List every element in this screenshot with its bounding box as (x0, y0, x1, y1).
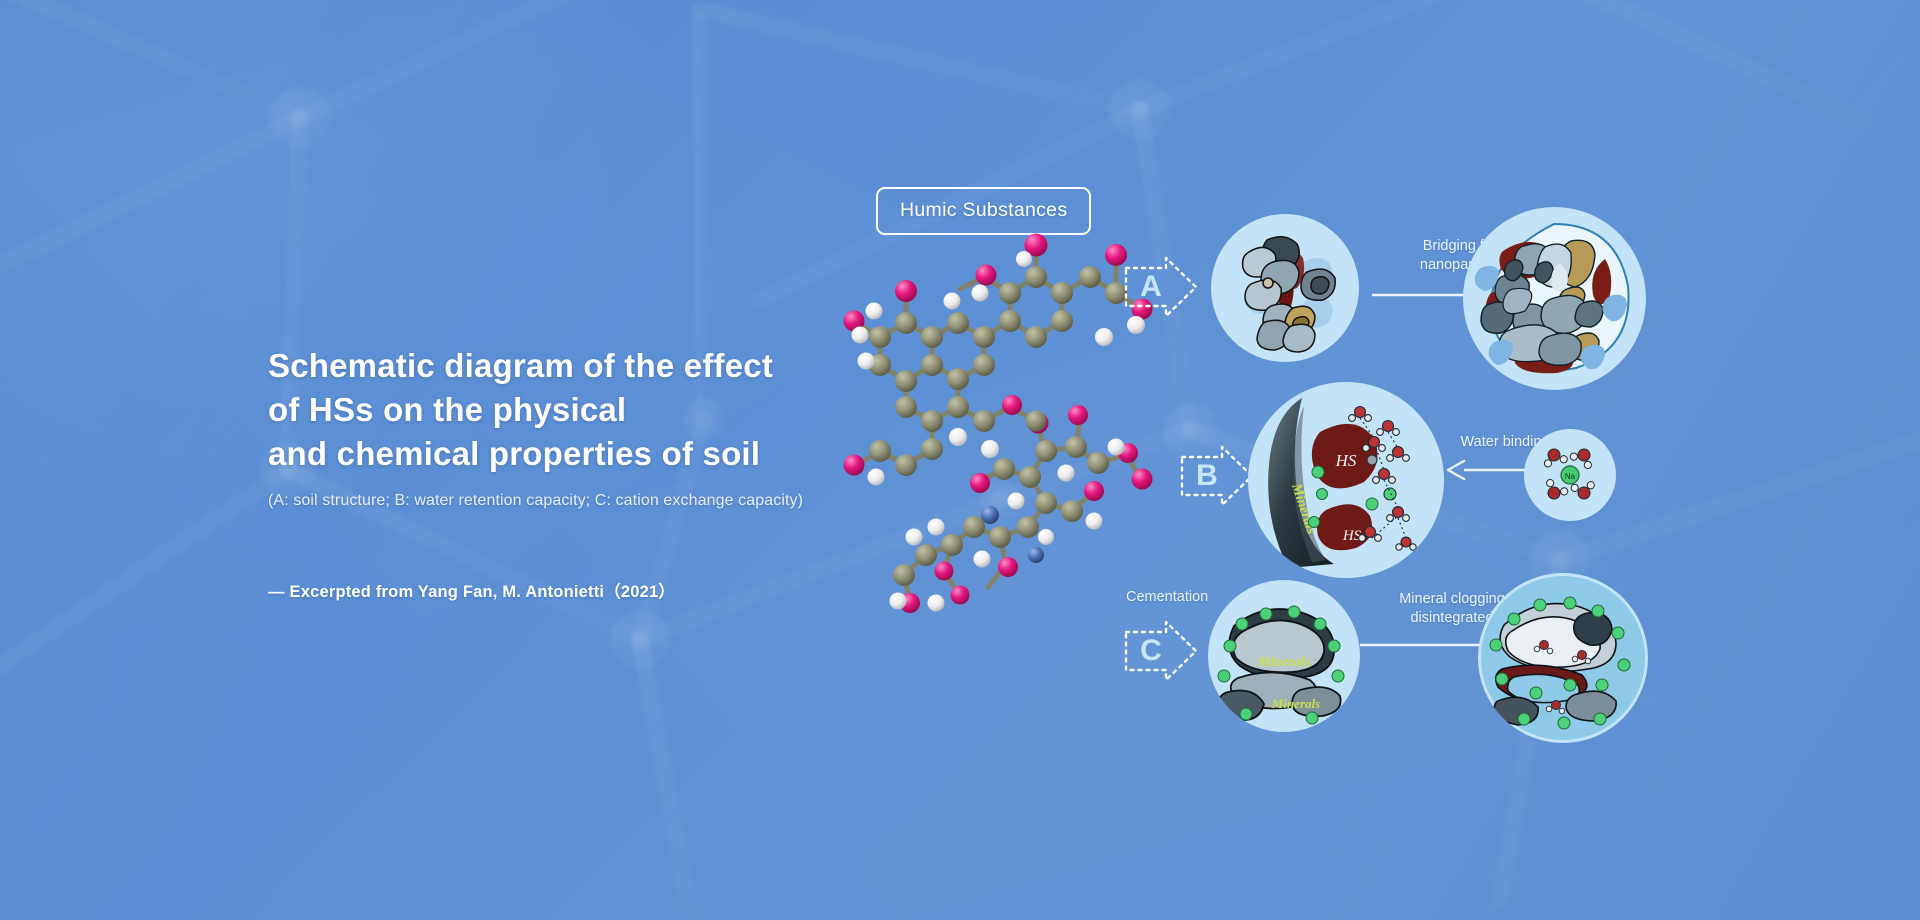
panel-soil-aggregates-loose (1211, 214, 1359, 362)
step-arrow-a: A (1122, 254, 1200, 320)
panel-mineral-clogged-aggregate: Minerals Minerals (1208, 580, 1360, 732)
source-credit: — Excerpted from Yang Fan, M. Antonietti… (268, 578, 908, 602)
panel-label-na: Na (1565, 472, 1576, 481)
panel-label-minerals-bottom: Minerals (1271, 696, 1320, 711)
panel-bridged-aggregate (1463, 207, 1646, 390)
step-arrow-b: B (1178, 443, 1256, 509)
step-letter-b: B (1178, 443, 1236, 509)
panel-hydrated-cation: Na (1524, 429, 1616, 521)
step-arrow-c: C (1122, 618, 1200, 684)
panel-hs-mineral-water: HS HS Minerals (1248, 382, 1444, 578)
humic-substances-label: Humic Substances (876, 187, 1091, 235)
page-title: Schematic diagram of the effect of HSs o… (268, 344, 908, 476)
step-letter-c: C (1122, 618, 1180, 684)
panel-label-minerals-top: Minerals (1257, 655, 1311, 670)
text-block: Schematic diagram of the effect of HSs o… (268, 344, 908, 602)
source-credit-text: — Excerpted from Yang Fan, M. Antonietti (268, 583, 604, 601)
panel-disintegrated-aggregate (1478, 573, 1648, 743)
page-title-line-2: of HSs on the physical (268, 388, 908, 432)
infographic-canvas: Schematic diagram of the effect of HSs o… (0, 0, 1920, 920)
source-credit-year: （2021） (604, 583, 675, 601)
step-letter-a: A (1122, 254, 1180, 320)
page-title-line-1: Schematic diagram of the effect (268, 344, 908, 388)
page-title-line-3: and chemical properties of soil (268, 432, 908, 476)
panel-label-hs-1: HS (1335, 451, 1357, 470)
page-subtitle: (A: soil structure; B: water retention c… (268, 490, 908, 512)
